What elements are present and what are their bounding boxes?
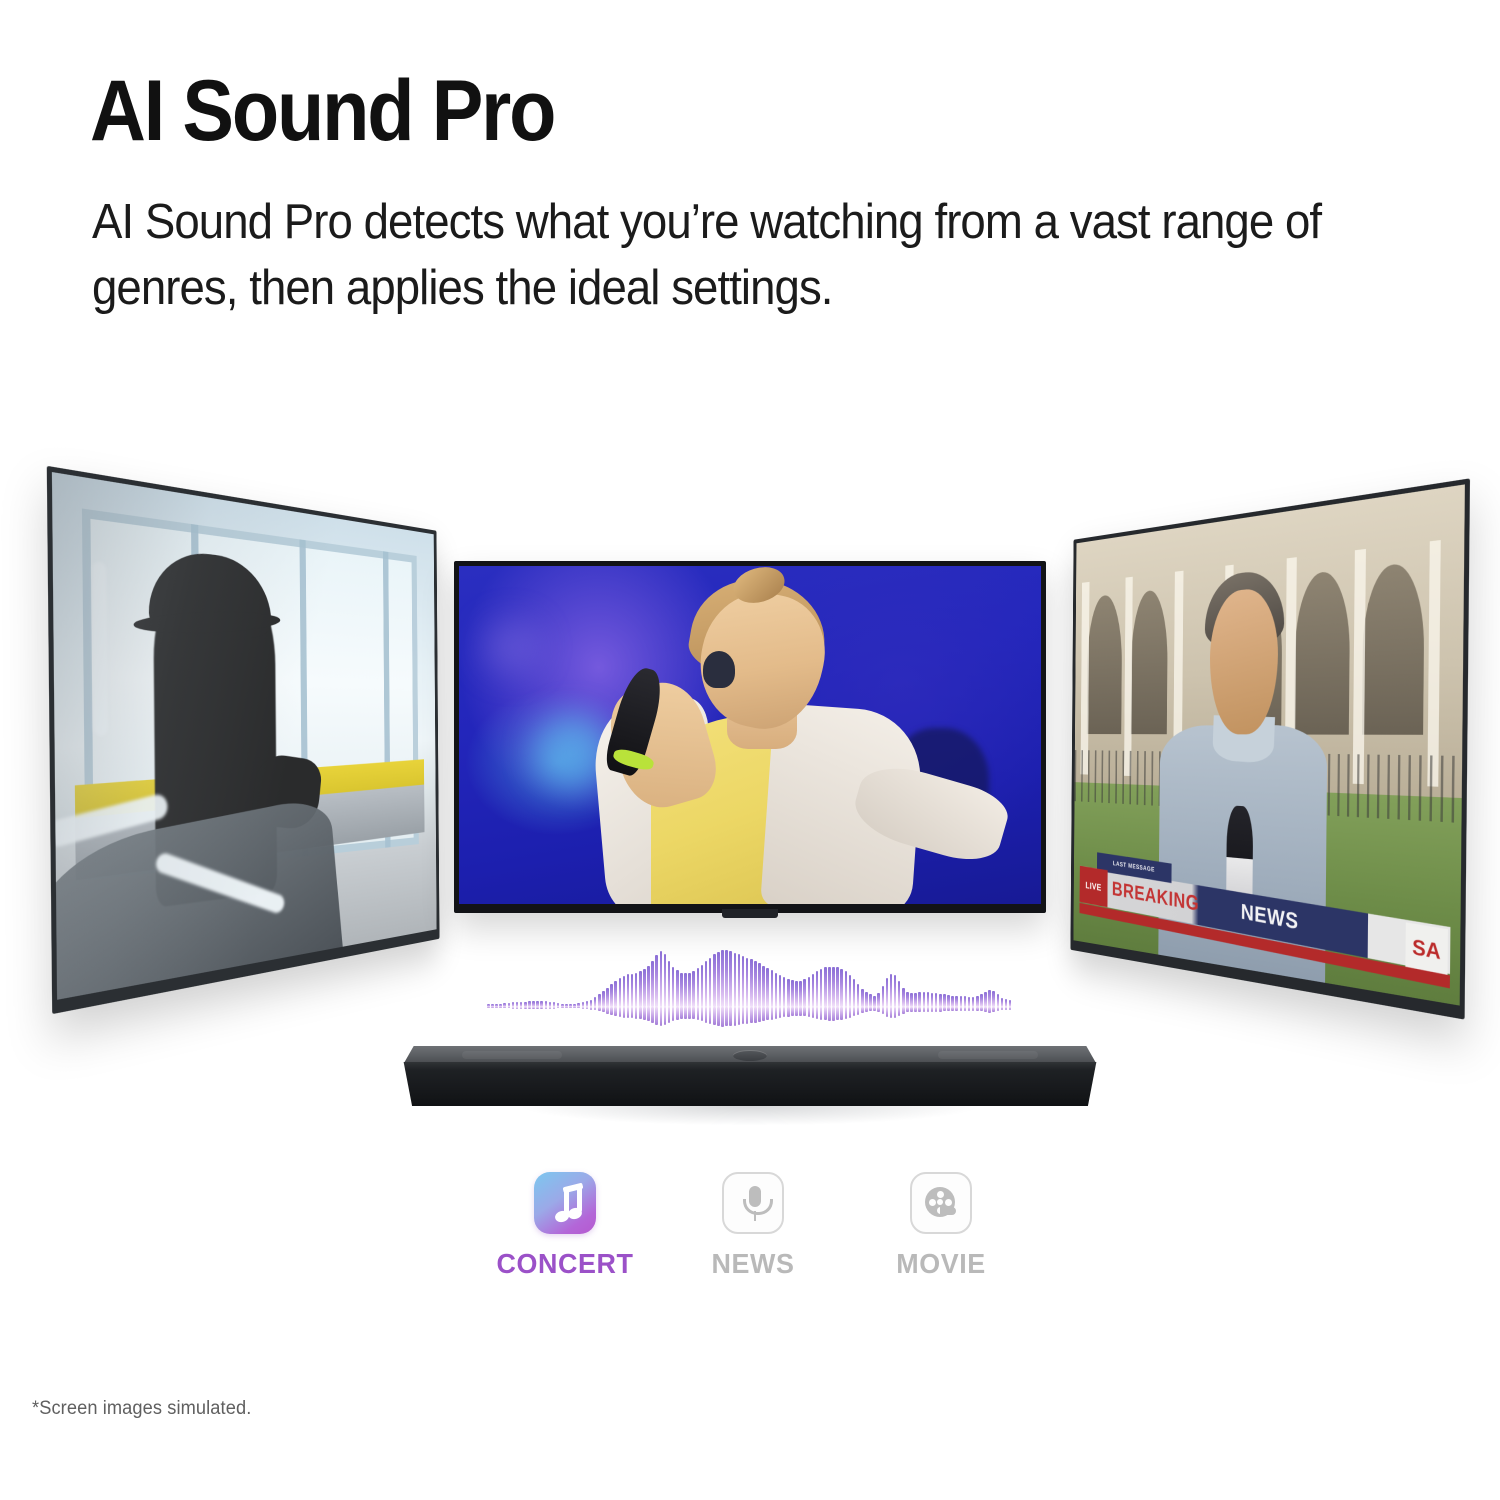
waveform-bar	[894, 1007, 897, 1018]
waveform-bar	[623, 1007, 626, 1018]
waveform-bar	[1005, 1007, 1008, 1010]
waveform-bar	[598, 994, 601, 1007]
waveform-bar	[750, 959, 753, 1007]
waveform-bar	[655, 1007, 658, 1025]
waveform-bar	[992, 1007, 995, 1012]
waveform-bar	[923, 1007, 926, 1012]
waveform-bar	[795, 981, 798, 1007]
waveform-bar	[849, 1007, 852, 1018]
waveform-bar	[918, 1007, 921, 1012]
waveform-bar	[951, 1007, 954, 1011]
waveform-bar	[672, 967, 675, 1007]
news-live-text: LIVE	[1085, 880, 1101, 893]
waveform-bar	[651, 1007, 654, 1023]
waveform-bar	[931, 1007, 934, 1012]
waveform-bar	[565, 1007, 568, 1008]
waveform-bar	[610, 1007, 613, 1015]
news-channel-text: SA	[1412, 935, 1441, 966]
soundbar-reflection	[432, 1106, 1068, 1160]
tv-center-concert	[454, 561, 1046, 913]
tv-left-screen	[52, 472, 437, 1000]
waveform-bar	[832, 967, 835, 1007]
waveform-bar	[701, 1007, 704, 1021]
waveform-bar	[606, 988, 609, 1008]
waveform-bar	[697, 1007, 700, 1020]
waveform-bar	[487, 1007, 490, 1008]
waveform-bar	[672, 1007, 675, 1021]
waveform-bar	[799, 1007, 802, 1016]
waveform-bar	[495, 1007, 498, 1008]
sound-mode-movie-label: MOVIE	[850, 1248, 1032, 1280]
soundbar-front-grille	[398, 1062, 1102, 1106]
waveform-bar	[762, 1007, 765, 1021]
waveform-bar	[623, 976, 626, 1007]
waveform-bar	[882, 986, 885, 1007]
waveform-bar	[873, 996, 876, 1007]
waveform-bar	[914, 1007, 917, 1012]
sound-mode-movie[interactable]: MOVIE	[846, 1172, 1036, 1280]
waveform-bar	[738, 954, 741, 1007]
waveform-bar	[997, 1007, 1000, 1011]
waveform-bar	[709, 1007, 712, 1024]
waveform-bar	[890, 1007, 893, 1018]
waveform-bar	[992, 991, 995, 1007]
waveform-bar	[902, 988, 905, 1008]
waveform-bar	[647, 1007, 650, 1021]
waveform-bar	[627, 1007, 630, 1018]
waveform-bar	[894, 975, 897, 1007]
waveform-bar	[635, 973, 638, 1007]
waveform-bar	[754, 1007, 757, 1023]
waveform-bar	[882, 1007, 885, 1014]
waveform-bar	[791, 980, 794, 1007]
waveform-bar	[512, 1007, 515, 1009]
waveform-bar	[795, 1007, 798, 1016]
waveform-bar	[775, 973, 778, 1007]
waveform-bar	[935, 1007, 938, 1012]
waveform-bar	[820, 969, 823, 1007]
tv-center-bezel	[454, 561, 1046, 913]
waveform-bar	[619, 1007, 622, 1017]
waveform-bar	[569, 1007, 572, 1008]
waveform-bar	[742, 1007, 745, 1024]
waveform-bar	[734, 1007, 737, 1026]
waveform-bar	[824, 967, 827, 1007]
footnote: *Screen images simulated.	[32, 1398, 251, 1420]
waveform-bar	[619, 978, 622, 1007]
waveform-bar	[927, 992, 930, 1007]
waveform-bar	[717, 952, 720, 1007]
waveform-bar	[721, 950, 724, 1007]
tv-left-movie	[18, 521, 448, 951]
sound-mode-concert[interactable]: CONCERT	[470, 1172, 660, 1280]
waveform-bar	[635, 1007, 638, 1019]
waveform-bar	[865, 1007, 868, 1012]
waveform-bar	[886, 978, 889, 1007]
tv-center-screen	[459, 566, 1041, 904]
waveform-bar	[898, 1007, 901, 1016]
ai-sound-pro-feature-page: AI Sound Pro AI Sound Pro detects what y…	[0, 0, 1500, 1500]
waveform-bar	[960, 1007, 963, 1011]
waveform-bar	[935, 993, 938, 1007]
waveform-bar	[734, 953, 737, 1008]
news-news-text: NEWS	[1241, 901, 1299, 937]
waveform-bar	[803, 979, 806, 1007]
waveform-bar	[984, 1007, 987, 1012]
waveform-bar	[606, 1007, 609, 1014]
waveform-bar	[697, 968, 700, 1007]
waveform-bar	[668, 1007, 671, 1023]
waveform-bar	[1001, 998, 1004, 1007]
waveform-bar	[680, 1007, 683, 1019]
waveform-bar	[976, 1007, 979, 1011]
news-scene-arch	[1130, 589, 1168, 734]
waveform-bar	[1009, 1007, 1012, 1010]
waveform-bar	[836, 1007, 839, 1020]
waveform-bar	[594, 1007, 597, 1010]
waveform-bar	[540, 1007, 543, 1009]
waveform-bar	[684, 973, 687, 1007]
waveform-bar	[660, 1007, 663, 1026]
waveform-bar	[808, 1007, 811, 1017]
waveform-bar	[943, 1007, 946, 1011]
waveform-bar	[853, 1007, 856, 1016]
waveform-bar	[845, 1007, 848, 1019]
waveform-bar	[701, 965, 704, 1007]
waveform-bar	[939, 1007, 942, 1011]
waveform-bar	[812, 974, 815, 1007]
waveform-bar	[614, 1007, 617, 1016]
waveform-bar	[639, 971, 642, 1007]
waveform-bar	[927, 1007, 930, 1012]
sound-mode-news-label: NEWS	[662, 1248, 844, 1280]
waveform-bar	[545, 1007, 548, 1009]
soundbar	[398, 1046, 1102, 1112]
waveform-bar	[775, 1007, 778, 1019]
waveform-bar	[590, 1007, 593, 1010]
concert-scene-earpiece	[703, 651, 735, 688]
waveform-bar	[918, 992, 921, 1007]
waveform-bar	[594, 997, 597, 1007]
waveform-bar	[647, 966, 650, 1007]
waveform-bar	[643, 1007, 646, 1020]
waveform-bar	[766, 1007, 769, 1020]
waveform-bar	[503, 1007, 506, 1008]
waveform-bar	[939, 994, 942, 1007]
waveform-bar	[779, 975, 782, 1007]
waveform-bar	[705, 1007, 708, 1023]
waveform-bar	[738, 1007, 741, 1025]
waveform-bar	[779, 1007, 782, 1018]
waveform-bar	[857, 984, 860, 1007]
waveform-bar	[808, 977, 811, 1007]
soundbar-top-surface	[404, 1046, 1096, 1063]
waveform-bar	[943, 994, 946, 1007]
waveform-bar	[840, 969, 843, 1007]
movie-scene-glare	[52, 472, 437, 1000]
waveform-bar	[931, 993, 934, 1007]
waveform-bar	[524, 1007, 527, 1009]
waveform-bar	[713, 1007, 716, 1025]
waveform-bar	[853, 979, 856, 1007]
waveform-bar	[791, 1007, 794, 1016]
waveform-bar	[602, 1007, 605, 1012]
waveform-bar	[668, 961, 671, 1007]
waveform-bar	[549, 1007, 552, 1009]
waveform-bar	[705, 961, 708, 1007]
waveform-bar	[586, 1007, 589, 1009]
waveform-bar	[561, 1007, 564, 1008]
waveform-bar	[980, 1007, 983, 1011]
waveform-bar	[972, 997, 975, 1007]
waveform-bar	[721, 1007, 724, 1027]
waveform-bar	[655, 955, 658, 1007]
waveform-bar	[849, 975, 852, 1007]
waveform-bar	[799, 981, 802, 1007]
microphone-icon	[722, 1172, 784, 1234]
news-scene-column	[1427, 539, 1441, 786]
waveform-bar	[528, 1007, 531, 1009]
waveform-bar	[955, 1007, 958, 1011]
waveform-bar	[631, 1007, 634, 1018]
waveform-bar	[553, 1007, 556, 1009]
waveform-bar	[947, 1007, 950, 1011]
waveform-bar	[906, 992, 909, 1007]
waveform-bar	[914, 993, 917, 1007]
waveform-bar	[557, 1007, 560, 1008]
waveform-bar	[573, 1007, 576, 1008]
waveform-bar	[688, 973, 691, 1007]
waveform-bar	[783, 977, 786, 1007]
tv-right-news: LAST MESSAGE LIVE BREAKING NEWS SA	[1058, 534, 1498, 964]
waveform-bar	[947, 995, 950, 1007]
waveform-bar	[861, 989, 864, 1007]
waveform-bar	[1001, 1007, 1004, 1010]
waveform-bar	[803, 1007, 806, 1016]
waveform-bar	[877, 1007, 880, 1012]
waveform-bar	[1009, 1000, 1012, 1007]
waveform-bar	[828, 1007, 831, 1021]
waveform-bar	[869, 994, 872, 1007]
waveform-bar	[639, 1007, 642, 1019]
waveform-bar	[742, 956, 745, 1007]
waveform-bar	[877, 993, 880, 1007]
waveform-bar	[602, 991, 605, 1007]
waveform-bar	[610, 984, 613, 1007]
soundbar-center-driver	[733, 1050, 767, 1061]
waveform-bar	[873, 1007, 876, 1011]
waveform-bar	[750, 1007, 753, 1023]
waveform-bar	[516, 1007, 519, 1009]
waveform-bar	[709, 958, 712, 1007]
waveform-bar	[845, 971, 848, 1007]
audio-waveform	[487, 948, 1013, 1030]
waveform-bar	[664, 1007, 667, 1025]
news-scene-column	[1124, 576, 1133, 775]
waveform-bar	[816, 1007, 819, 1019]
waveform-bar	[651, 961, 654, 1007]
waveform-bar	[783, 1007, 786, 1017]
waveform-bar	[664, 954, 667, 1007]
waveform-bar	[910, 1007, 913, 1012]
waveform-bar	[968, 997, 971, 1007]
soundbar-vent-left	[462, 1051, 562, 1059]
waveform-bar	[758, 963, 761, 1007]
waveform-bar	[713, 954, 716, 1007]
waveform-bar	[598, 1007, 601, 1011]
waveform-bar	[906, 1007, 909, 1012]
waveform-bar	[923, 992, 926, 1007]
waveform-bar	[820, 1007, 823, 1020]
waveform-bar	[643, 969, 646, 1007]
news-scene-column	[1081, 582, 1090, 775]
waveform-bar	[988, 1007, 991, 1013]
waveform-bar	[902, 1007, 905, 1014]
waveform-bar	[725, 950, 728, 1007]
waveform-bar	[972, 1007, 975, 1011]
waveform-bar	[684, 1007, 687, 1019]
waveform-bar	[771, 970, 774, 1007]
page-title: AI Sound Pro	[90, 68, 554, 156]
waveform-bar	[520, 1007, 523, 1009]
waveform-bar	[729, 1007, 732, 1026]
waveform-bar	[828, 967, 831, 1007]
news-scene-column	[1353, 548, 1366, 783]
waveform-bar	[582, 1007, 585, 1009]
waveform-bar	[886, 1007, 889, 1017]
waveform-bar	[762, 966, 765, 1007]
waveform-bar	[861, 1007, 864, 1013]
music-note-icon	[534, 1172, 596, 1234]
tv-left-bezel	[47, 466, 440, 1014]
waveform-bar	[960, 996, 963, 1007]
waveform-bar	[955, 996, 958, 1007]
waveform-bar	[832, 1007, 835, 1021]
tv-right-screen: LAST MESSAGE LIVE BREAKING NEWS SA	[1073, 484, 1464, 1005]
sound-mode-list: CONCERT NEWS MOVIE	[470, 1172, 1030, 1282]
soundbar-vent-right	[938, 1051, 1038, 1059]
waveform-bar	[746, 1007, 749, 1024]
waveform-bar	[980, 994, 983, 1007]
waveform-bar	[499, 1007, 502, 1008]
waveform-bar	[725, 1007, 728, 1026]
film-reel-icon	[910, 1172, 972, 1234]
sound-mode-concert-label: CONCERT	[474, 1248, 656, 1280]
waveform-bar	[627, 974, 630, 1007]
waveform-bar	[910, 993, 913, 1007]
waveform-bar	[536, 1007, 539, 1009]
waveform-bar	[771, 1007, 774, 1019]
waveform-bar	[491, 1007, 494, 1008]
waveform-bar	[964, 1007, 967, 1011]
waveform-bar	[1005, 999, 1008, 1007]
sound-mode-news[interactable]: NEWS	[658, 1172, 848, 1280]
waveform-bar	[976, 996, 979, 1007]
tv-right-bezel: LAST MESSAGE LIVE BREAKING NEWS SA	[1070, 478, 1470, 1019]
waveform-bar	[964, 996, 967, 1007]
waveform-bar	[984, 992, 987, 1007]
waveform-bar	[812, 1007, 815, 1018]
news-live-badge: LIVE	[1080, 866, 1108, 908]
waveform-bar	[631, 974, 634, 1007]
waveform-bar	[787, 1007, 790, 1017]
waveform-bar	[660, 951, 663, 1007]
waveform-bar	[717, 1007, 720, 1026]
waveform-bar	[746, 958, 749, 1007]
waveform-bar	[840, 1007, 843, 1020]
tv-center-stand	[722, 909, 778, 918]
waveform-bar	[676, 1007, 679, 1019]
page-subtitle: AI Sound Pro detects what you’re watchin…	[92, 190, 1413, 321]
waveform-bar	[865, 992, 868, 1007]
waveform-bar	[824, 1007, 827, 1020]
waveform-bar	[508, 1007, 511, 1008]
waveform-bar	[890, 974, 893, 1007]
waveform-bar	[816, 971, 819, 1007]
waveform-bar	[729, 951, 732, 1007]
waveform-bar	[754, 961, 757, 1007]
waveform-bar	[614, 981, 617, 1007]
waveform-bar	[680, 973, 683, 1007]
waveform-bar	[968, 1007, 971, 1011]
waveform-bar	[898, 981, 901, 1007]
waveform-bar	[857, 1007, 860, 1015]
waveform-bar	[988, 990, 991, 1007]
waveform-bar	[766, 968, 769, 1007]
waveform-bar	[676, 970, 679, 1007]
waveform-bar	[836, 967, 839, 1007]
waveform-bar	[997, 994, 1000, 1007]
waveform-bar	[532, 1007, 535, 1009]
news-scene-arch	[1087, 594, 1122, 734]
waveform-bar	[692, 971, 695, 1007]
waveform-bar	[787, 979, 790, 1007]
waveform-bar	[692, 1007, 695, 1019]
waveform-bar	[577, 1007, 580, 1008]
waveform-bar	[590, 1000, 593, 1007]
waveform-bar	[758, 1007, 761, 1022]
waveform-bar	[951, 996, 954, 1007]
waveform-bar	[869, 1007, 872, 1011]
waveform-bar	[688, 1007, 691, 1019]
